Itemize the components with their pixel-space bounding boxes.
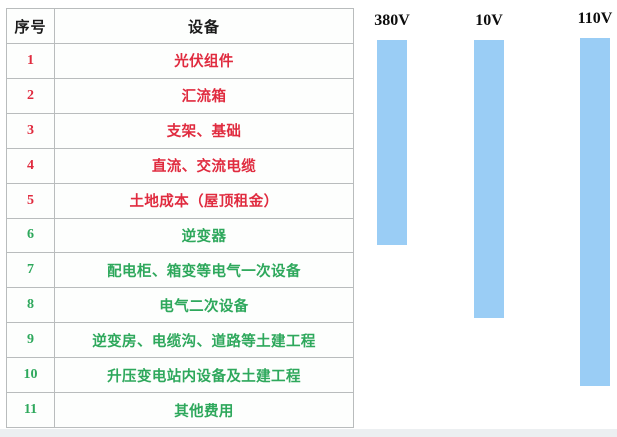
bar-rect (377, 40, 407, 245)
table-row: 5土地成本（屋顶租金） (7, 183, 354, 218)
row-index-cell: 6 (7, 218, 55, 253)
row-equipment-cell: 逆变器 (55, 218, 354, 253)
table-row: 11其他费用 (7, 393, 354, 428)
table-row: 6逆变器 (7, 218, 354, 253)
row-index-cell: 2 (7, 78, 55, 113)
bar-label: 380V (359, 12, 425, 30)
row-equipment-cell: 升压变电站内设备及土建工程 (55, 358, 354, 393)
bar-group: 10V (474, 0, 504, 437)
row-index-cell: 5 (7, 183, 55, 218)
table-row: 3支架、基础 (7, 113, 354, 148)
row-index-cell: 8 (7, 288, 55, 323)
bar-label: 10V (456, 12, 522, 30)
table-header: 序号 设备 (7, 9, 354, 44)
row-index-cell: 1 (7, 44, 55, 79)
row-equipment-cell: 其他费用 (55, 393, 354, 428)
row-equipment-cell: 光伏组件 (55, 44, 354, 79)
row-equipment-cell: 逆变房、电缆沟、道路等土建工程 (55, 323, 354, 358)
bar-chart: 380V10V110V 智汇光伏 (360, 0, 617, 437)
table-row: 7配电柜、箱变等电气一次设备 (7, 253, 354, 288)
bar-rect (474, 40, 504, 318)
row-index-cell: 3 (7, 113, 55, 148)
table-row: 9逆变房、电缆沟、道路等土建工程 (7, 323, 354, 358)
bar-label: 110V (562, 10, 617, 28)
row-equipment-cell: 土地成本（屋顶租金） (55, 183, 354, 218)
row-index-cell: 9 (7, 323, 55, 358)
row-equipment-cell: 直流、交流电缆 (55, 148, 354, 183)
equipment-table: 序号 设备 1光伏组件2汇流箱3支架、基础4直流、交流电缆5土地成本（屋顶租金）… (6, 8, 354, 428)
table-row: 10升压变电站内设备及土建工程 (7, 358, 354, 393)
row-index-cell: 10 (7, 358, 55, 393)
row-equipment-cell: 支架、基础 (55, 113, 354, 148)
table-row: 2汇流箱 (7, 78, 354, 113)
bar-group: 110V (580, 0, 610, 437)
equipment-table-container: 序号 设备 1光伏组件2汇流箱3支架、基础4直流、交流电缆5土地成本（屋顶租金）… (6, 8, 353, 428)
row-index-cell: 7 (7, 253, 55, 288)
row-index-cell: 4 (7, 148, 55, 183)
column-header-equipment: 设备 (55, 9, 354, 44)
table-row: 4直流、交流电缆 (7, 148, 354, 183)
table-header-row: 序号 设备 (7, 9, 354, 44)
row-equipment-cell: 汇流箱 (55, 78, 354, 113)
bar-rect (580, 38, 610, 386)
column-header-index: 序号 (7, 9, 55, 44)
row-equipment-cell: 配电柜、箱变等电气一次设备 (55, 253, 354, 288)
bar-group: 380V (377, 0, 407, 437)
table-row: 8电气二次设备 (7, 288, 354, 323)
table-row: 1光伏组件 (7, 44, 354, 79)
screenshot-root: 序号 设备 1光伏组件2汇流箱3支架、基础4直流、交流电缆5土地成本（屋顶租金）… (0, 0, 617, 437)
row-index-cell: 11 (7, 393, 55, 428)
bottom-strip (0, 429, 617, 437)
row-equipment-cell: 电气二次设备 (55, 288, 354, 323)
table-body: 1光伏组件2汇流箱3支架、基础4直流、交流电缆5土地成本（屋顶租金）6逆变器7配… (7, 44, 354, 428)
